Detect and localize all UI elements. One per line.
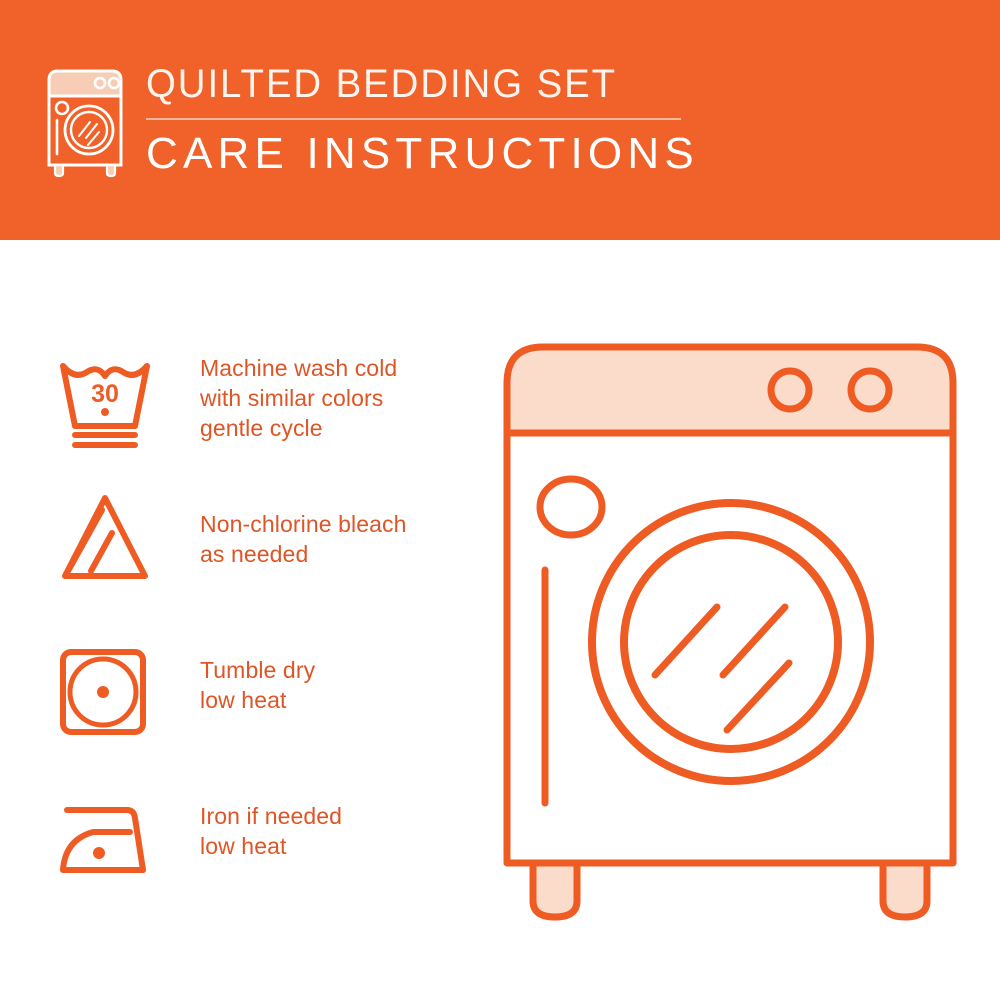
header-title-group: QUILTED BEDDING SET CARE INSTRUCTIONS: [146, 62, 699, 176]
care-item-label: Non-chlorine bleach as needed: [200, 488, 406, 570]
care-item-label: Iron if needed low heat: [200, 788, 342, 862]
care-item-label: Tumble dry low heat: [200, 640, 315, 716]
iron-low-heat-icon: [55, 788, 155, 888]
wash-temp-label: 30: [91, 380, 119, 408]
header-content: QUILTED BEDDING SET CARE INSTRUCTIONS: [44, 62, 699, 178]
machine-wash-tub-icon: 30: [55, 350, 155, 450]
page-title: QUILTED BEDDING SET: [146, 62, 617, 104]
care-instructions-list: 30 Machine wash cold with similar colors…: [0, 240, 480, 1000]
care-item-bleach: Non-chlorine bleach as needed: [55, 488, 475, 588]
foot-left: [533, 863, 577, 917]
washing-machine-icon: [44, 66, 126, 178]
header-band: QUILTED BEDDING SET CARE INSTRUCTIONS: [0, 0, 1000, 240]
foot-right: [883, 863, 927, 917]
care-item-tumble-dry: Tumble dry low heat: [55, 640, 475, 740]
care-item-iron: Iron if needed low heat: [55, 788, 475, 888]
washing-machine-illustration: [495, 335, 965, 935]
non-chlorine-bleach-triangle-icon: [55, 488, 155, 588]
cabinet-body: [507, 433, 953, 863]
page-subtitle: CARE INSTRUCTIONS: [146, 132, 699, 176]
tumble-dry-low-icon: [55, 640, 155, 740]
care-item-machine-wash: 30 Machine wash cold with similar colors…: [55, 350, 475, 450]
title-divider: [146, 118, 681, 120]
care-item-label: Machine wash cold with similar colors ge…: [200, 350, 397, 444]
